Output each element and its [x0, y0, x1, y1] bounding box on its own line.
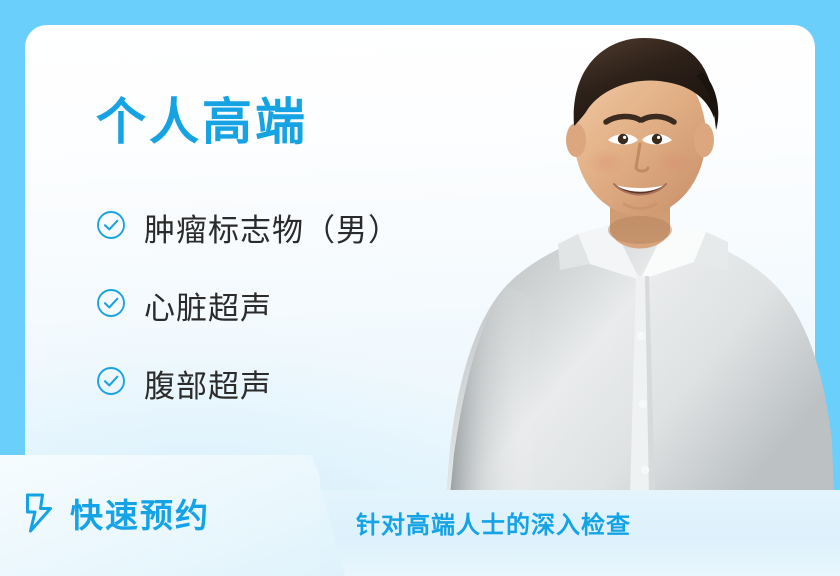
list-item: 肿瘤标志物（男）: [96, 188, 400, 266]
quick-booking-label: 快速预约: [70, 499, 210, 532]
feature-label: 心脏超声: [144, 283, 272, 328]
check-circle-icon: [96, 366, 126, 401]
check-circle-icon: [96, 288, 126, 323]
list-item: 心脏超声: [96, 266, 400, 344]
lightning-bolt-icon: [22, 493, 56, 538]
list-item: 腹部超声: [96, 344, 400, 422]
quick-booking-button[interactable]: 快速预约: [0, 455, 345, 576]
check-circle-icon: [96, 210, 126, 245]
feature-label: 肿瘤标志物（男）: [144, 205, 400, 250]
page-title: 个人高端: [96, 97, 308, 147]
feature-label: 腹部超声: [144, 361, 272, 406]
footer-tagline: 针对高端人士的深入检查: [356, 505, 631, 540]
promo-banner: 个人高端 肿瘤标志物（男） 心脏超声: [0, 0, 840, 576]
feature-list: 肿瘤标志物（男） 心脏超声 腹部超声: [96, 188, 400, 422]
